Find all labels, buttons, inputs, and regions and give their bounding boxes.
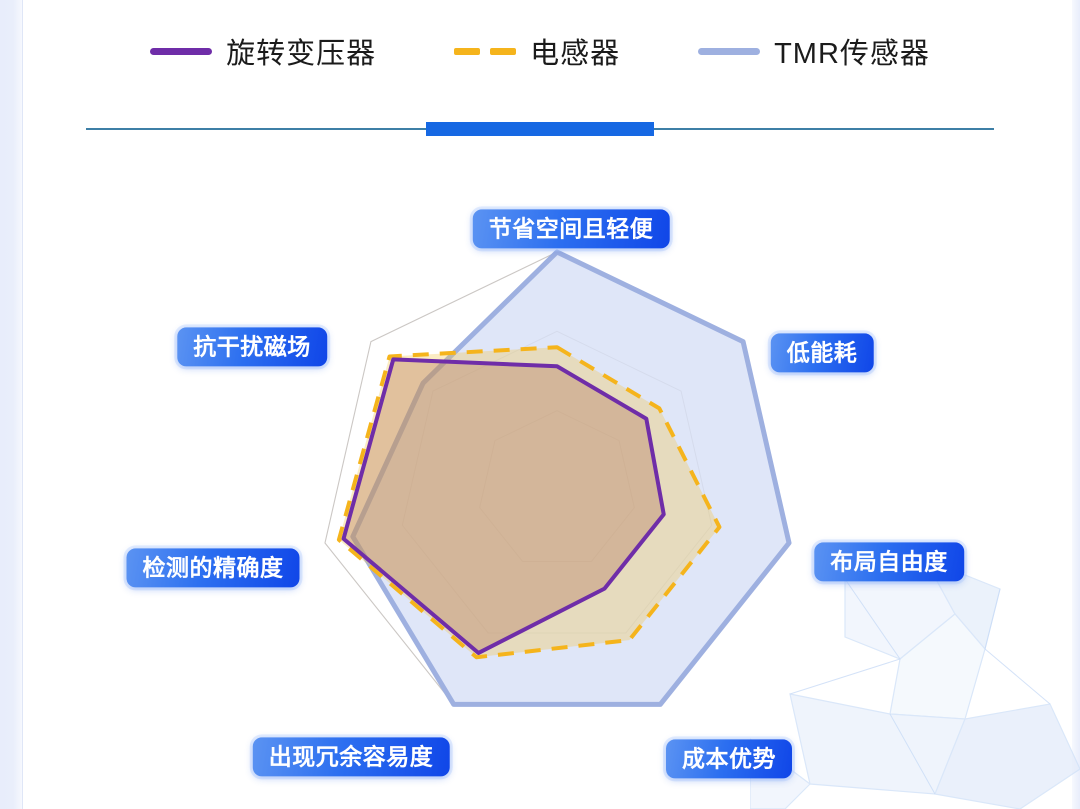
legend-item-tmr[interactable]: TMR传感器 [698,30,930,72]
radar-chart-svg [0,150,1080,809]
divider-accent-bar [426,122,654,136]
legend-label: 电感器 [530,30,620,72]
section-divider [86,122,994,136]
legend-item-resolver[interactable]: 旋转变压器 [150,30,376,72]
radar-chart-page: 旋转变压器 电感器 TMR传感器 节省空间且轻便低能耗布局自由度成本优势出现冗余… [0,0,1080,809]
line-swatch-icon [698,48,760,55]
axis-label-3: 布局自由度 [814,542,964,581]
axis-label-5: 出现冗余容易度 [253,737,450,776]
radar-chart-area: 节省空间且轻便低能耗布局自由度成本优势出现冗余容易度检测的精确度抗干扰磁场 [0,150,1080,809]
axis-label-1: 节省空间且轻便 [473,209,670,248]
chart-legend: 旋转变压器 电感器 TMR传感器 [0,30,1080,72]
axis-label-6: 检测的精确度 [127,548,300,587]
axis-label-4: 成本优势 [666,739,792,778]
legend-label: 旋转变压器 [226,30,376,72]
dashed-line-swatch-icon [454,48,516,55]
line-swatch-icon [150,48,212,55]
legend-label: TMR传感器 [774,30,930,72]
axis-label-7: 抗干扰磁场 [177,327,327,366]
axis-label-2: 低能耗 [771,333,874,372]
legend-item-inductor[interactable]: 电感器 [454,30,620,72]
